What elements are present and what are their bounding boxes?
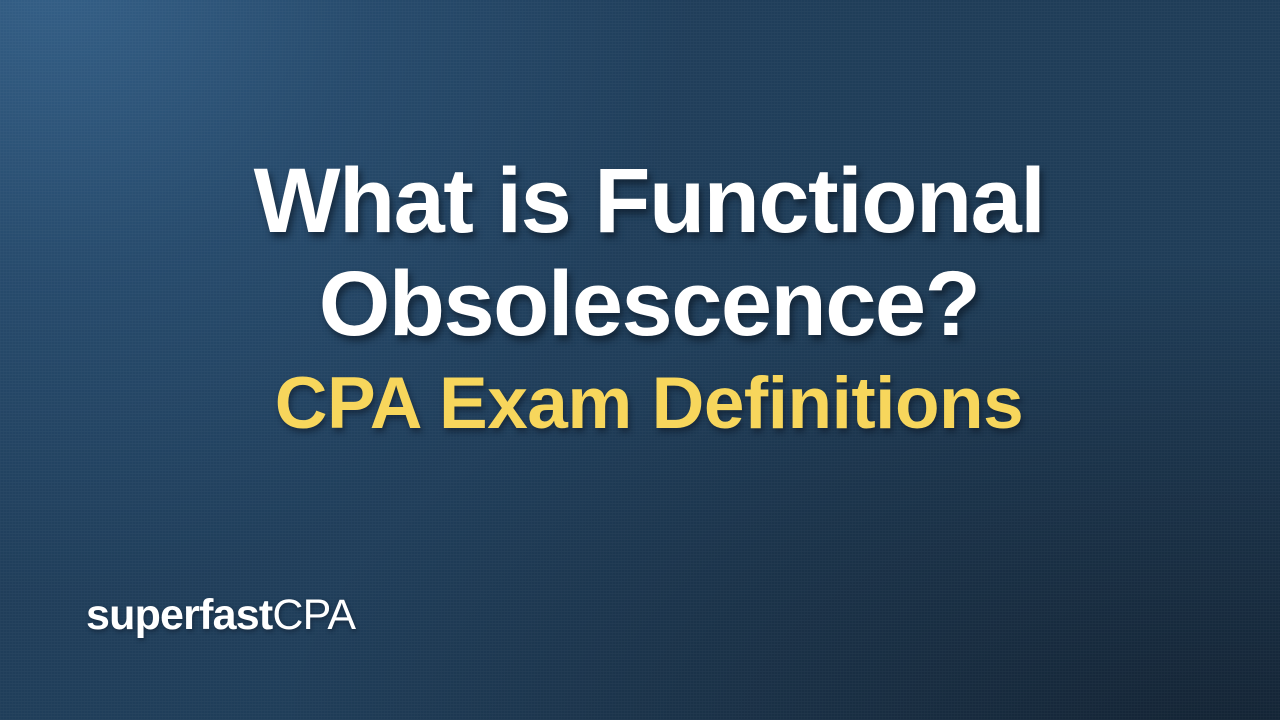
headline-line-2: Obsolescence? xyxy=(18,253,1280,356)
title-slide: What is Functional Obsolescence? CPA Exa… xyxy=(0,0,1280,720)
brand-logo: superfastCPA xyxy=(86,592,355,638)
brand-logo-strong: superfast xyxy=(86,591,272,639)
brand-logo-light: CPA xyxy=(272,591,355,639)
subtitle: CPA Exam Definitions xyxy=(18,356,1280,452)
headline-block: What is Functional Obsolescence? CPA Exa… xyxy=(0,150,1280,452)
headline-line-1: What is Functional xyxy=(18,150,1280,253)
